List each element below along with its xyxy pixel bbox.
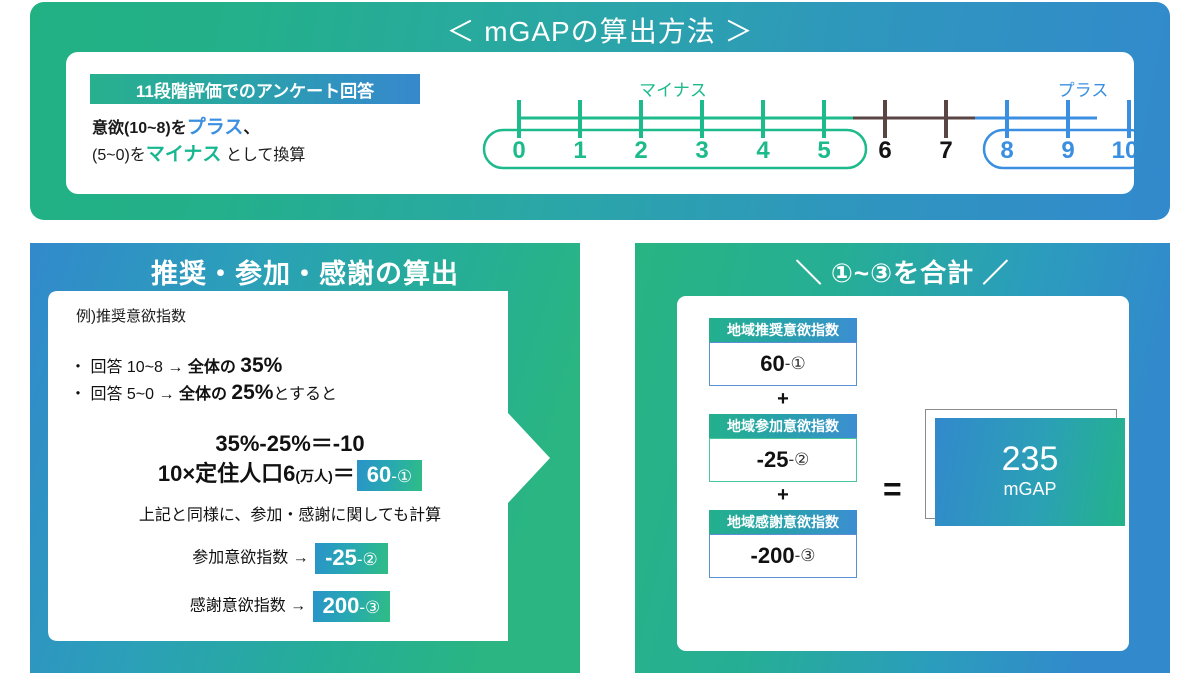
- index-box-value: -25-②: [709, 438, 857, 482]
- tick-label-1: 1: [573, 137, 586, 164]
- right-white-card: 地域推奨意欲指数 60-① + 地域参加意欲指数 -25-② + 地域感謝意欲指…: [677, 296, 1129, 651]
- page-title: ＜ mGAPの算出方法 ＞: [30, 10, 1170, 50]
- result-mgap-box: 235 mGAP: [935, 418, 1125, 526]
- result-number: 235: [1002, 442, 1059, 478]
- left-panel: 推奨・参加・感謝の算出 例)推奨意欲指数 ・ 回答 10~8 → 全体の 35%…: [30, 243, 580, 673]
- tick-label-8: 8: [1000, 137, 1013, 164]
- index-row-participation: 参加意欲指数 → -25-②: [30, 543, 550, 574]
- left-panel-content: 例)推奨意欲指数 ・ 回答 10~8 → 全体の 35% ・ 回答 5~0 → …: [30, 243, 580, 673]
- note-same-calculation: 上記と同様に、参加・感謝に関しても計算: [30, 501, 550, 525]
- index-row-gratitude: 感謝意欲指数 → 200-③: [30, 591, 550, 622]
- plus-operator: +: [709, 484, 857, 507]
- result-chip-2: -25-②: [315, 543, 388, 574]
- chip-marker: -②: [357, 550, 378, 569]
- index-box-gratitude: 地域感謝意欲指数 -200-③: [709, 510, 857, 578]
- bullet-mid: 全体の: [188, 359, 240, 376]
- bullet-prefix: ・ 回答 10~8 →: [70, 359, 188, 376]
- bullet-prefix: ・ 回答 5~0 →: [70, 386, 179, 403]
- result-unit: mGAP: [1003, 478, 1056, 501]
- index-row-label: 感謝意欲指数 →: [190, 598, 311, 615]
- index-marker: -②: [788, 450, 809, 470]
- result-chip-3: 200-③: [313, 591, 391, 622]
- index-value: -25: [757, 447, 789, 473]
- tick-label-9: 9: [1061, 137, 1074, 164]
- index-marker: -①: [785, 354, 806, 374]
- tick-label-10: 10: [1112, 137, 1134, 164]
- bullet-mid: 全体の: [179, 386, 231, 403]
- top-banner: ＜ mGAPの算出方法 ＞ 11段階評価でのアンケート回答 意欲(10~8)をプ…: [30, 2, 1170, 220]
- index-value: 60: [760, 351, 784, 377]
- equals-operator: =: [883, 471, 902, 508]
- index-box-value: -200-③: [709, 534, 857, 578]
- index-box-participation: 地域参加意欲指数 -25-②: [709, 414, 857, 482]
- right-panel-title: ＼ ①~③を合計 ／: [635, 253, 1170, 290]
- index-box-header: 地域参加意欲指数: [709, 414, 857, 438]
- infographic-stage: ＜ mGAPの算出方法 ＞ 11段階評価でのアンケート回答 意欲(10~8)をプ…: [0, 0, 1200, 675]
- index-box-value: 60-①: [709, 342, 857, 386]
- chip-value: -25: [325, 545, 357, 570]
- tick-label-2: 2: [634, 137, 647, 164]
- tick-label-6: 6: [878, 137, 891, 164]
- index-box-header: 地域推奨意欲指数: [709, 318, 857, 342]
- chip-marker: -①: [391, 467, 412, 486]
- equation-line-2: 10×定住人口6(万人)＝60-①: [30, 456, 550, 491]
- bullet-value: 25%: [231, 381, 273, 404]
- equation-2-equals: ＝: [333, 461, 355, 486]
- bullet-item: ・ 回答 10~8 → 全体の 35%: [70, 353, 282, 378]
- index-marker: -③: [795, 546, 816, 566]
- index-box-recommendation: 地域推奨意欲指数 60-①: [709, 318, 857, 386]
- chip-value: 200: [323, 593, 360, 618]
- bullet-value: 35%: [240, 354, 282, 377]
- equation-line-1: 35%-25%＝-10: [30, 426, 550, 458]
- example-label: 例)推奨意欲指数: [76, 305, 186, 326]
- index-value: -200: [751, 543, 795, 569]
- bullet-suffix: とすると: [273, 386, 337, 403]
- chip-marker: -③: [359, 598, 380, 617]
- tick-label-3: 3: [695, 137, 708, 164]
- scale-number-line: 0 1 2 3 4 5 6 7 8 9 10: [66, 52, 1134, 194]
- tick-label-7: 7: [939, 137, 952, 164]
- bullet-item: ・ 回答 5~0 → 全体の 25%とすると: [70, 380, 337, 405]
- equation-2-prefix: 10×定住人口6: [158, 461, 296, 486]
- tick-label-4: 4: [756, 137, 770, 164]
- plus-operator: +: [709, 388, 857, 411]
- equation-2-unit: (万人): [295, 468, 332, 484]
- tick-label-0: 0: [512, 137, 525, 164]
- top-white-card: 11段階評価でのアンケート回答 意欲(10~8)をプラス、 (5~0)をマイナス…: [66, 52, 1134, 194]
- right-panel: ＼ ①~③を合計 ／ 地域推奨意欲指数 60-① + 地域参加意欲指数 -25-…: [635, 243, 1170, 673]
- result-chip-1: 60-①: [357, 460, 422, 491]
- tick-label-5: 5: [817, 137, 830, 164]
- chip-value: 60: [367, 462, 391, 487]
- index-row-label: 参加意欲指数 →: [192, 550, 313, 567]
- index-box-header: 地域感謝意欲指数: [709, 510, 857, 534]
